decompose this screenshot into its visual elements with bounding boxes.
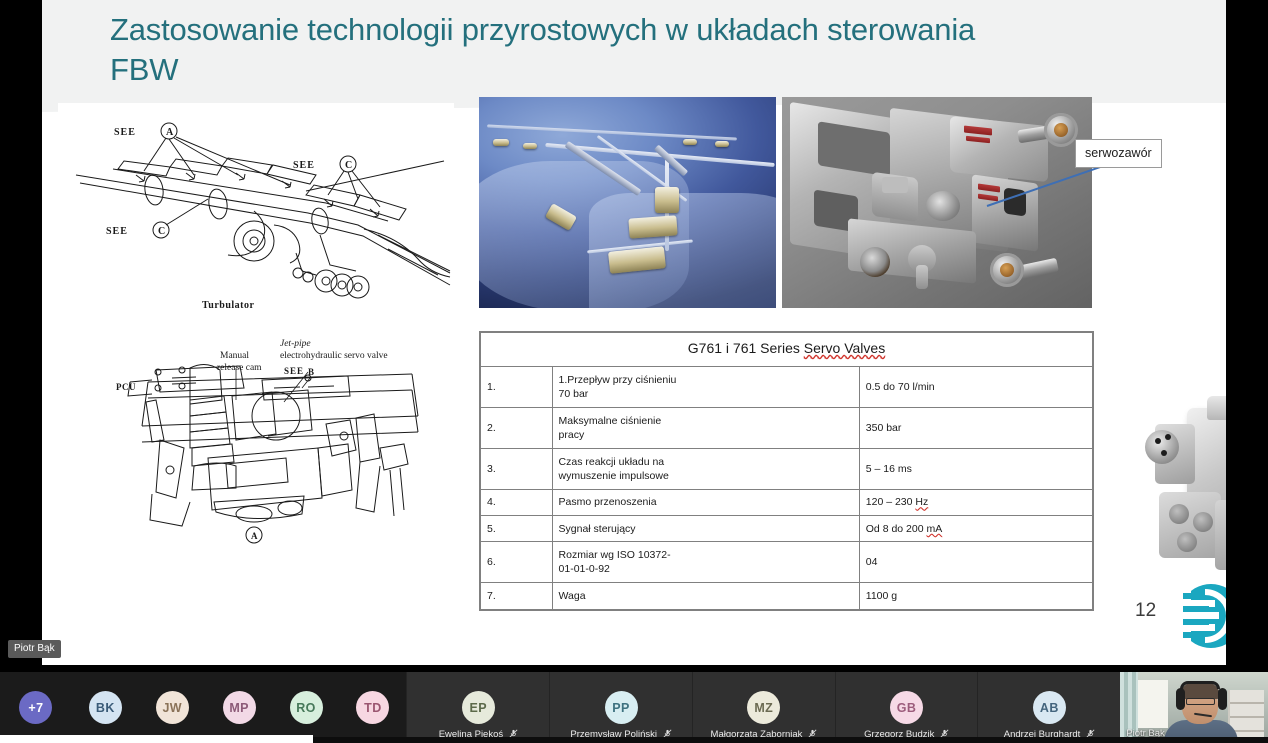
meeting-screen-share-window: Zastosowanie technologii przyrostowych w…	[0, 0, 1268, 743]
row-number: 6.	[481, 542, 553, 583]
table-row: 6. Rozmiar wg ISO 10372- 01-01-0-92 04	[481, 542, 1093, 583]
avatar: MZ	[747, 691, 780, 724]
table-row: 3. Czas reakcji układu na wymuszenie imp…	[481, 448, 1093, 489]
label-manual: Manual	[220, 351, 249, 361]
video-background-window	[1138, 680, 1168, 728]
table-row: 1. 1.Przepływ przy ciśnieniu 70 bar 0.5 …	[481, 366, 1093, 407]
row-number: 1.	[481, 366, 553, 407]
label-detail-a: A	[251, 531, 258, 541]
wing-actuation-system-render	[479, 97, 776, 308]
avatar: JW	[156, 691, 189, 724]
row-parameter: Waga	[552, 583, 859, 609]
table-row: 7. Waga 1100 g	[481, 583, 1093, 609]
avatar: AB	[1033, 691, 1066, 724]
self-video-tile[interactable]: Piotr Bąk	[1120, 672, 1268, 743]
label-see-b-ref: B	[308, 367, 314, 377]
label-jet-pipe-desc: electrohydraulic servo valve	[280, 351, 388, 361]
callout-text: serwozawór	[1085, 146, 1152, 160]
avatar: MP	[223, 691, 256, 724]
headset-earcup-right-icon	[1218, 688, 1227, 710]
label-see-c-left-ref: C	[158, 226, 165, 237]
participant-overflow[interactable]: +7	[0, 672, 72, 743]
aircraft-wing-line-drawing: SEE A SEE C SEE C Turbulator	[58, 103, 454, 318]
actuator-assembly-line-drawing: Manual release cam Jet-pipe electrohydra…	[112, 330, 452, 555]
row-parameter: Pasmo przenoszenia	[552, 489, 859, 515]
participant-tile-0[interactable]: EP Ewelina Piękoś	[406, 672, 549, 743]
participant-avatar-0[interactable]: BK	[72, 672, 139, 743]
label-see-a-ref: A	[166, 127, 174, 138]
table-row: 4. Pasmo przenoszenia 120 – 230 Hz	[481, 489, 1093, 515]
row-number: 4.	[481, 489, 553, 515]
table-row: 2. Maksymalne ciśnienie pracy 350 bar	[481, 407, 1093, 448]
participant-tile-2[interactable]: MZ Małgorzata Zaborniak	[692, 672, 835, 743]
participant-tile-3[interactable]: GB Grzegorz Budzik	[835, 672, 978, 743]
organization-logo-icon	[1175, 580, 1226, 652]
page-title: Zastosowanie technologii przyrostowych w…	[110, 10, 1050, 91]
label-release-cam: release cam	[217, 363, 262, 373]
row-number: 3.	[481, 448, 553, 489]
participant-avatar-3[interactable]: RO	[273, 672, 340, 743]
participant-avatar-2[interactable]: MP	[206, 672, 273, 743]
label-turbulator: Turbulator	[202, 300, 254, 311]
table-title: G761 i 761 Series Servo Valves	[481, 333, 1093, 367]
participant-tile-4[interactable]: AB Andrzej Burghardt	[977, 672, 1120, 743]
presentation-slide: Zastosowanie technologii przyrostowych w…	[42, 0, 1226, 665]
taskbar-sliver	[0, 735, 313, 743]
row-value: 5 – 16 ms	[859, 448, 1092, 489]
row-number: 2.	[481, 407, 553, 448]
row-parameter: Rozmiar wg ISO 10372- 01-01-0-92	[552, 542, 859, 583]
screen-share-stage: Zastosowanie technologii przyrostowych w…	[0, 0, 1268, 672]
callout-serwozawor: serwozawór	[1075, 139, 1162, 168]
video-person-glasses	[1186, 698, 1215, 705]
presenter-name-tag: Piotr Bąk	[8, 640, 61, 658]
label-see-c-right-ref: C	[345, 160, 352, 171]
avatar: +7	[19, 691, 52, 724]
headset-band-icon	[1180, 681, 1220, 689]
avatar: EP	[462, 691, 495, 724]
participant-avatar-1[interactable]: JW	[139, 672, 206, 743]
row-value: Od 8 do 200 mA	[859, 516, 1092, 542]
row-parameter: Czas reakcji układu na wymuszenie impuls…	[552, 448, 859, 489]
row-value: 350 bar	[859, 407, 1092, 448]
label-see-b: SEE	[284, 366, 304, 376]
label-see-c-left: SEE	[106, 226, 128, 237]
row-parameter: 1.Przepływ przy ciśnieniu 70 bar	[552, 366, 859, 407]
row-parameter: Sygnał sterujący	[552, 516, 859, 542]
label-jet-pipe: Jet-pipe	[280, 339, 311, 349]
participant-bar: +7 BK JW MP RO TD EP Ewelina Piękoś	[0, 672, 1268, 743]
row-value: 120 – 230 Hz	[859, 489, 1092, 515]
avatar: TD	[356, 691, 389, 724]
row-value: 0.5 do 70 l/min	[859, 366, 1092, 407]
servo-valve-spec-table: G761 i 761 Series Servo Valves 1. 1.Prze…	[479, 331, 1094, 611]
slide-page-number: 12	[1135, 600, 1156, 622]
avatar: PP	[605, 691, 638, 724]
table-header-row: G761 i 761 Series Servo Valves	[481, 333, 1093, 367]
participant-tile-1[interactable]: PP Przemysław Poliński	[549, 672, 692, 743]
participant-avatar-4[interactable]: TD	[339, 672, 406, 743]
label-see-c-right: SEE	[293, 160, 315, 171]
row-parameter: Maksymalne ciśnienie pracy	[552, 407, 859, 448]
label-see-a: SEE	[114, 127, 136, 138]
avatar: RO	[290, 691, 323, 724]
row-value: 1100 g	[859, 583, 1092, 609]
headset-earcup-left-icon	[1176, 688, 1185, 710]
label-pcu: PCU	[116, 382, 136, 392]
row-number: 7.	[481, 583, 553, 609]
table-title-underlined: Servo Valves	[804, 340, 885, 356]
servo-valve-photo	[782, 97, 1092, 308]
avatar: BK	[89, 691, 122, 724]
row-number: 5.	[481, 516, 553, 542]
row-value: 04	[859, 542, 1092, 583]
table-row: 5. Sygnał sterujący Od 8 do 200 mA	[481, 516, 1093, 542]
avatar: GB	[890, 691, 923, 724]
